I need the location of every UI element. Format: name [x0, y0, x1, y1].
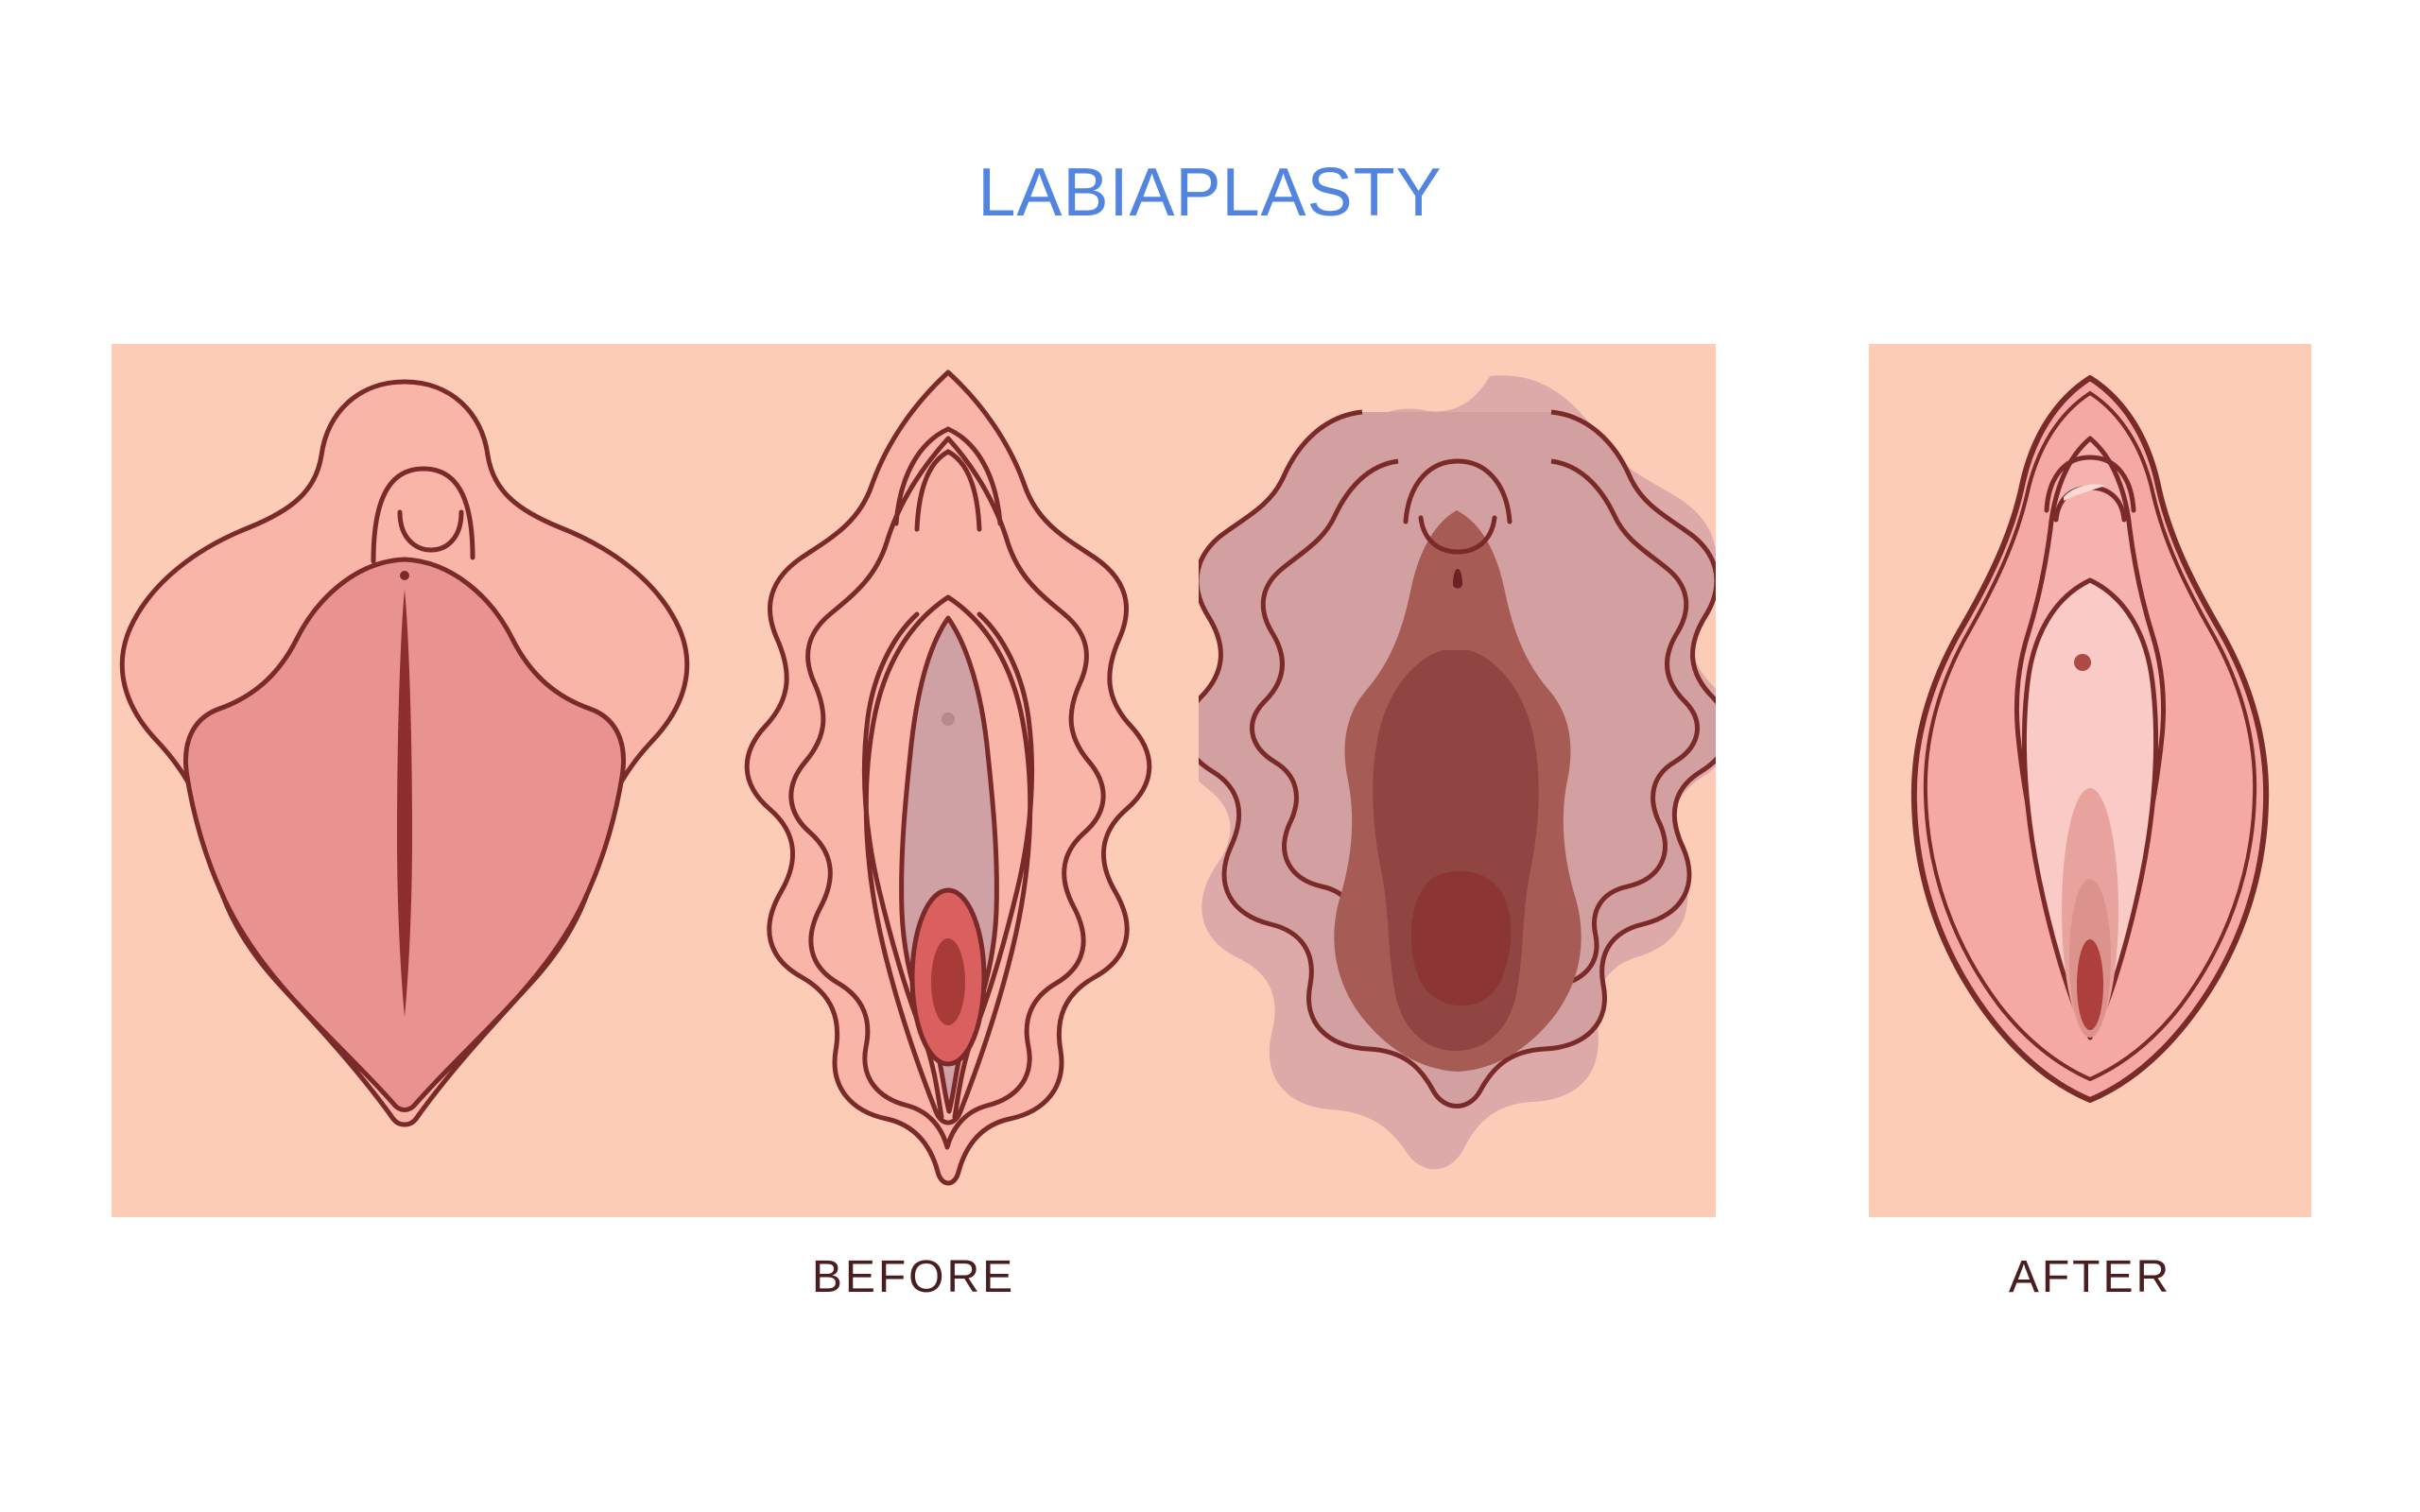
page-title: LABIAPLASTY	[0, 159, 2420, 227]
panel-before	[112, 344, 1716, 1217]
caption-before: BEFORE	[112, 1255, 1716, 1300]
figure-4-artwork	[1914, 378, 2266, 1100]
figure-vulva-elongated-labia-minora	[698, 344, 1199, 1217]
figure-3-artwork	[1199, 375, 1716, 1169]
panel-after	[1869, 344, 2311, 1217]
urethral-opening-dot	[942, 713, 955, 726]
vaginal-opening-inner	[931, 938, 965, 1025]
figure-vulva-prominent-labia-majora	[112, 344, 698, 1217]
urethral-opening-dot	[2074, 654, 2091, 671]
figure-vulva-post-labiaplasty	[1869, 344, 2311, 1217]
vestibule-dark-patch	[1411, 871, 1512, 1005]
urethral-opening-dot	[400, 571, 409, 580]
figure-1-artwork	[122, 382, 686, 1125]
caption-after: AFTER	[1869, 1255, 2311, 1300]
vaginal-opening-dark	[2077, 939, 2103, 1030]
figure-vulva-hypertrophic-swollen	[1199, 344, 1716, 1217]
figure-2-artwork	[747, 372, 1149, 1183]
